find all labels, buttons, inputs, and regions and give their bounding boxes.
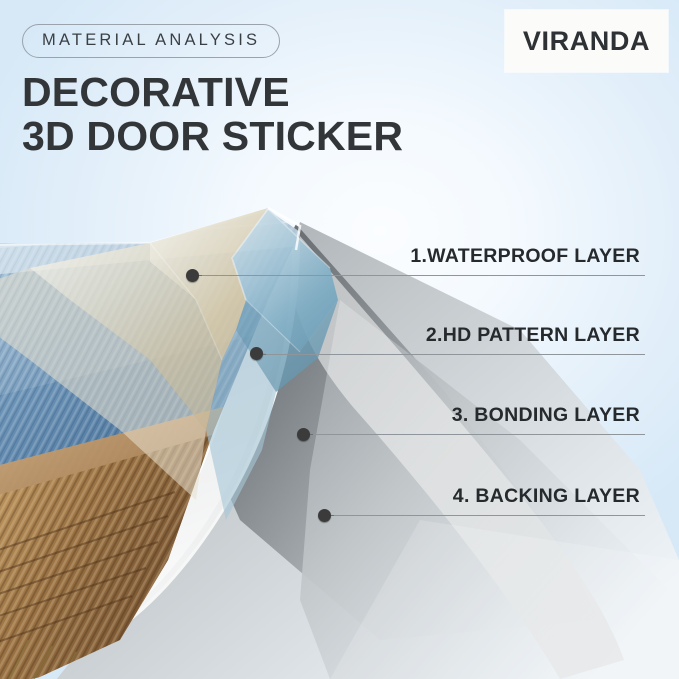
callout-label-2: 2.HD PATTERN LAYER <box>426 324 640 346</box>
callout-label-4: 4. BACKING LAYER <box>453 485 640 507</box>
callout-dot-3 <box>297 428 310 441</box>
callout-group: 1.WATERPROOF LAYER2.HD PATTERN LAYER3. B… <box>0 0 679 679</box>
callout-label-3: 3. BONDING LAYER <box>452 404 640 426</box>
callout-rule-2 <box>266 354 645 355</box>
callout-rule-4 <box>334 515 645 516</box>
infographic-canvas: MATERIAL ANALYSIS DECORATIVE 3D DOOR STI… <box>0 0 679 679</box>
callout-label-1: 1.WATERPROOF LAYER <box>410 245 640 267</box>
callout-rule-1 <box>202 275 645 276</box>
callout-dot-4 <box>318 509 331 522</box>
callout-rule-3 <box>313 434 645 435</box>
callout-dot-2 <box>250 347 263 360</box>
callout-dot-1 <box>186 269 199 282</box>
